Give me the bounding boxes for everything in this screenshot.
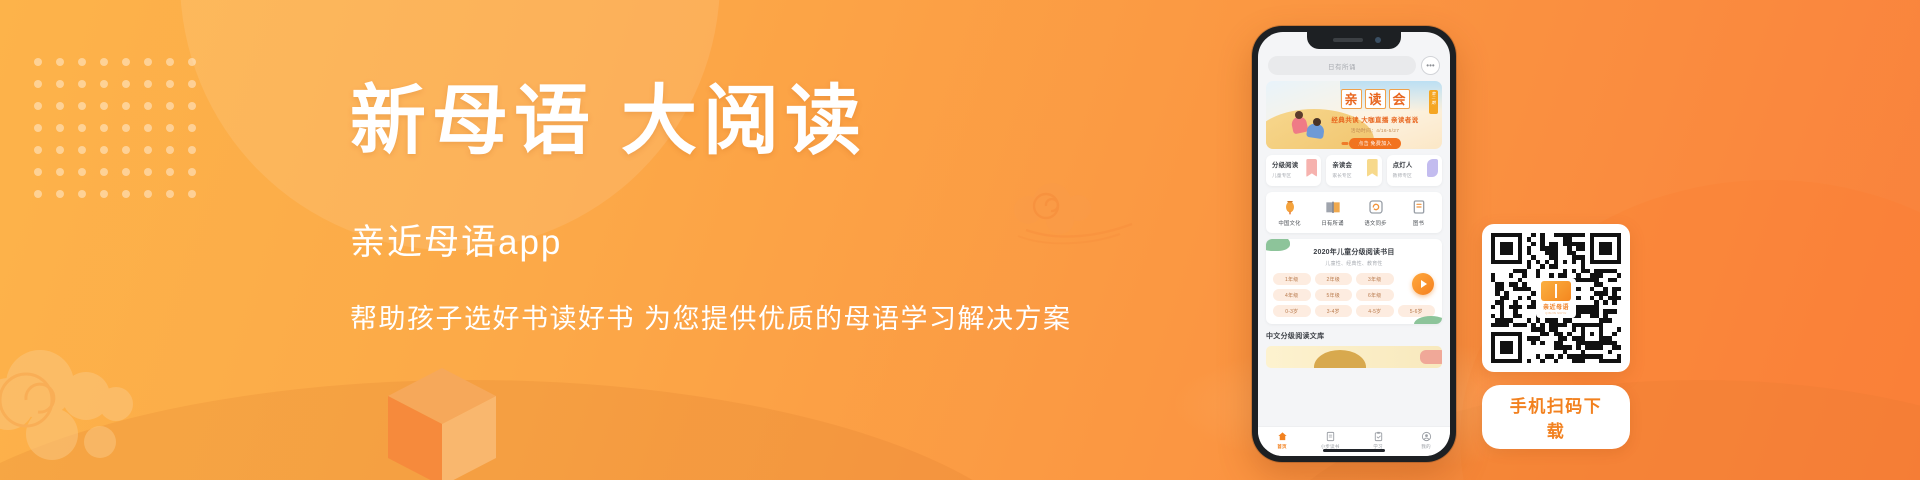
library-tab <box>1420 350 1442 364</box>
hero-title-char: 会 <box>1389 89 1410 109</box>
open-book-icon <box>1325 199 1341 215</box>
grade-chip[interactable]: 3-4岁 <box>1315 305 1353 317</box>
promo-banner: 新母语 大阅读 亲近母语app 帮助孩子选好书读好书 为您提供优质的母语学习解决… <box>0 0 1920 480</box>
category-card[interactable]: 亲读会 家长专区 <box>1326 155 1381 186</box>
sync-icon <box>1368 199 1384 215</box>
grade-chip[interactable]: 4年级 <box>1273 289 1311 301</box>
tab-study[interactable]: 学习 <box>1354 431 1402 450</box>
grade-chip-list: 1年级 2年级 3年级 4年级 5年级 6年级 0-3岁 3-4岁 4-5岁 5… <box>1273 273 1435 317</box>
banner-subtitle: 亲近母语app <box>350 214 1070 265</box>
quick-link-books[interactable]: 图书 <box>1397 199 1440 227</box>
library-title: 中文分级阅读文库 <box>1266 331 1442 341</box>
quick-link-daily-recite[interactable]: 日有所诵 <box>1311 199 1354 227</box>
grade-chip[interactable]: 3年级 <box>1356 273 1394 285</box>
app-screen-content: 日有所诵 ••• 亲 读 会 第二期 <box>1258 32 1450 456</box>
qr-code-image: 亲近母语 QINJIN MUYU <box>1491 233 1621 363</box>
user-icon <box>1421 431 1432 442</box>
qr-code-card[interactable]: 亲近母语 QINJIN MUYU <box>1482 224 1630 372</box>
booklist-title: 2020年儿童分级阅读书目 <box>1273 247 1435 257</box>
more-dots-icon[interactable]: ••• <box>1421 56 1440 75</box>
banner-copy: 新母语 大阅读 亲近母语app 帮助孩子选好书读好书 为您提供优质的母语学习解决… <box>350 84 1070 336</box>
quick-link-label: 日有所诵 <box>1321 219 1343 227</box>
tab-home[interactable]: 首页 <box>1258 431 1306 450</box>
book-logo-icon <box>1541 281 1571 301</box>
bookmark-icon <box>1427 159 1438 177</box>
qr-caption-button[interactable]: 手机扫码下载 <box>1482 385 1630 449</box>
hero-subtitle: 经典共读 大咖直播 亲读者说 <box>1331 114 1418 124</box>
hero-title-char: 亲 <box>1341 89 1362 109</box>
decorative-cloud-icon <box>0 338 192 468</box>
app-logo: 亲近母语 QINJIN MUYU <box>1536 278 1576 318</box>
booklist-subtitle: 儿童性、经典性、教育性 <box>1273 260 1435 267</box>
tab-reading[interactable]: 小步读书 <box>1306 431 1354 450</box>
grade-chip[interactable]: 1年级 <box>1273 273 1311 285</box>
category-card-list: 分级阅读 儿童专区 亲读会 家长专区 点灯人 教师专区 <box>1266 155 1442 186</box>
hero-date: 活动时间：4/16-5/27 <box>1351 127 1399 134</box>
hero-title-char: 读 <box>1365 89 1386 109</box>
logo-text-en: QINJIN MUYU <box>1545 312 1566 315</box>
category-card[interactable]: 点灯人 教师专区 <box>1387 155 1442 186</box>
phone-camera <box>1375 37 1381 43</box>
library-section: 中文分级阅读文库 <box>1266 331 1442 368</box>
lantern-icon <box>1282 199 1298 215</box>
grade-chip[interactable]: 6年级 <box>1356 289 1394 301</box>
grade-chip[interactable]: 0-3岁 <box>1273 305 1311 317</box>
tab-label: 我的 <box>1421 444 1430 450</box>
phone-mockup: 日有所诵 ••• 亲 读 会 第二期 <box>1252 26 1456 462</box>
book-icon <box>1411 199 1427 215</box>
grade-chip[interactable]: 4-5岁 <box>1356 305 1394 317</box>
hero-title: 亲 读 会 第二期 <box>1341 89 1410 109</box>
page-title: 新母语 大阅读 <box>350 84 1070 160</box>
quick-link-textbook-sync[interactable]: 语文同步 <box>1354 199 1397 227</box>
carousel-dots[interactable] <box>1342 142 1367 145</box>
qr-download-block: 亲近母语 QINJIN MUYU 手机扫码下载 <box>1482 224 1630 449</box>
grade-chip[interactable]: 5年级 <box>1315 289 1353 301</box>
search-input[interactable]: 日有所诵 <box>1268 56 1416 75</box>
quick-link-label: 语文同步 <box>1364 219 1386 227</box>
phone-speaker <box>1333 38 1363 42</box>
clipboard-icon <box>1373 431 1384 442</box>
tab-label: 首页 <box>1277 444 1286 450</box>
quick-link-china-culture[interactable]: 中国文化 <box>1268 199 1311 227</box>
decorative-hill-left <box>0 380 1060 480</box>
phone-home-indicator <box>1323 449 1385 452</box>
logo-text-cn: 亲近母语 <box>1543 302 1569 311</box>
hero-child-1-head <box>1295 111 1303 119</box>
library-cover-strip[interactable] <box>1266 346 1442 368</box>
tab-profile[interactable]: 我的 <box>1402 431 1450 450</box>
quick-link-label: 中国文化 <box>1278 219 1300 227</box>
phone-notch <box>1307 32 1401 49</box>
quick-link-row: 中国文化 日有所诵 <box>1266 192 1442 233</box>
banner-tagline: 帮助孩子选好书读好书 为您提供优质的母语学习解决方案 <box>350 297 1070 336</box>
reading-icon <box>1325 431 1336 442</box>
decorative-dot-grid <box>34 58 210 212</box>
hero-badge: 第二期 <box>1429 90 1438 114</box>
leaf-decoration <box>1414 316 1442 324</box>
hero-text-block: 亲 读 会 第二期 经典共读 大咖直播 亲读者说 活动时间：4/16-5/27 … <box>1316 89 1434 149</box>
home-icon <box>1277 431 1288 442</box>
app-search-row: 日有所诵 ••• <box>1266 54 1442 81</box>
quick-link-label: 图书 <box>1413 219 1424 227</box>
play-video-icon[interactable] <box>1412 273 1434 295</box>
phone-screen: 日有所诵 ••• 亲 读 会 第二期 <box>1258 32 1450 456</box>
decorative-cube-icon <box>388 368 496 480</box>
hero-banner-card[interactable]: 亲 读 会 第二期 经典共读 大咖直播 亲读者说 活动时间：4/16-5/27 … <box>1266 81 1442 149</box>
category-card[interactable]: 分级阅读 儿童专区 <box>1266 155 1321 186</box>
booklist-card: 2020年儿童分级阅读书目 儿童性、经典性、教育性 1年级 2年级 3年级 4年… <box>1266 239 1442 324</box>
library-arc <box>1314 350 1366 368</box>
grade-chip[interactable]: 2年级 <box>1315 273 1353 285</box>
